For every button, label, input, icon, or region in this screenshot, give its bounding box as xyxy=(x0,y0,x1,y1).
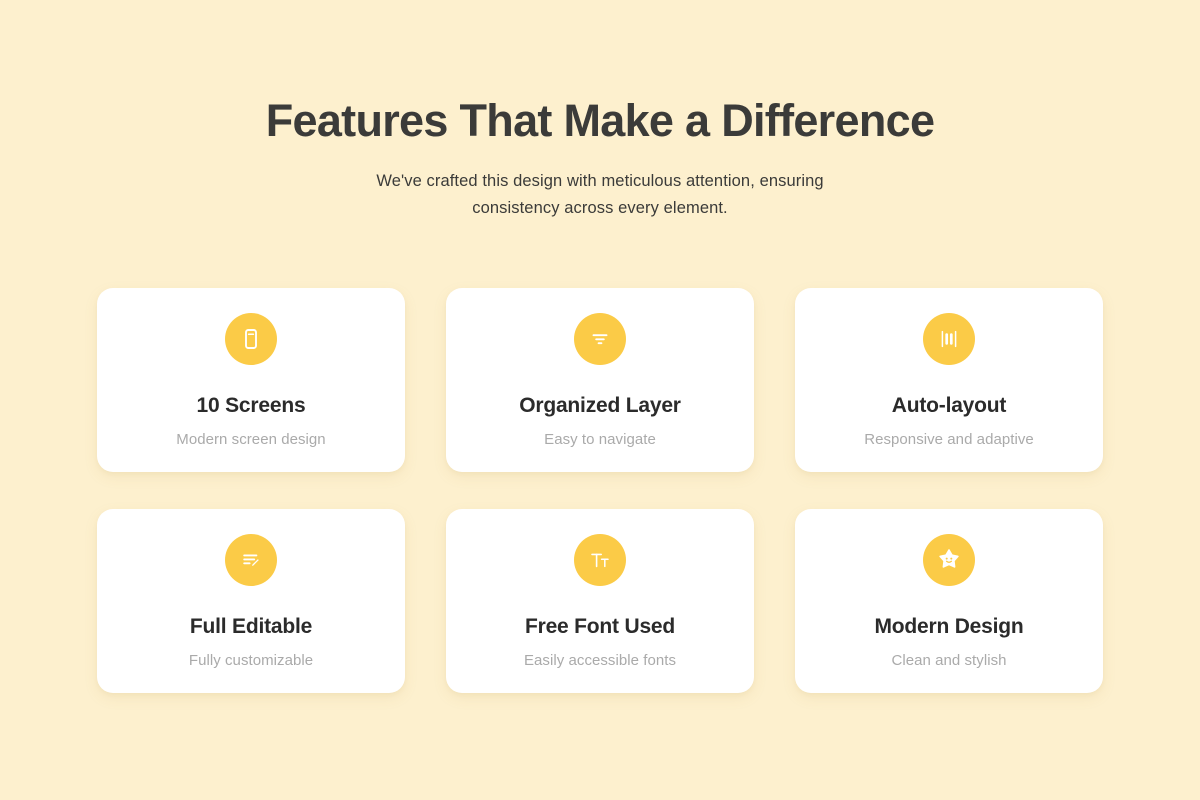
smiling-star-icon xyxy=(923,534,975,586)
feature-description: Easily accessible fonts xyxy=(524,652,676,670)
feature-title: Organized Layer xyxy=(519,394,681,417)
auto-layout-bars-icon xyxy=(923,313,975,365)
feature-description: Easy to navigate xyxy=(544,431,656,449)
feature-section-page: Features That Make a Difference We've cr… xyxy=(0,0,1200,800)
section-header: Features That Make a Difference We've cr… xyxy=(0,0,1200,222)
feature-card-free-font-used[interactable]: Free Font Used Easily accessible fonts xyxy=(446,509,754,693)
feature-description: Responsive and adaptive xyxy=(864,431,1034,449)
page-subtitle-line-1: We've crafted this design with meticulou… xyxy=(330,168,870,195)
feature-description: Clean and stylish xyxy=(891,652,1006,670)
feature-title: Free Font Used xyxy=(525,615,675,638)
edit-pencil-lines-icon xyxy=(225,534,277,586)
feature-description: Modern screen design xyxy=(176,431,325,449)
page-title: Features That Make a Difference xyxy=(0,96,1200,146)
feature-title: 10 Screens xyxy=(197,394,306,417)
feature-card-modern-design[interactable]: Modern Design Clean and stylish xyxy=(795,509,1103,693)
mobile-screen-icon xyxy=(225,313,277,365)
feature-title: Modern Design xyxy=(874,615,1023,638)
typography-tt-icon xyxy=(574,534,626,586)
feature-title: Full Editable xyxy=(190,615,312,638)
feature-description: Fully customizable xyxy=(189,652,313,670)
page-subtitle: We've crafted this design with meticulou… xyxy=(330,168,870,221)
feature-card-auto-layout[interactable]: Auto-layout Responsive and adaptive xyxy=(795,288,1103,472)
feature-title: Auto-layout xyxy=(892,394,1006,417)
features-grid: 10 Screens Modern screen design Organize… xyxy=(97,288,1103,693)
page-subtitle-line-2: consistency across every element. xyxy=(330,195,870,222)
feature-card-10-screens[interactable]: 10 Screens Modern screen design xyxy=(97,288,405,472)
feature-card-organized-layer[interactable]: Organized Layer Easy to navigate xyxy=(446,288,754,472)
layers-lines-icon xyxy=(574,313,626,365)
feature-card-full-editable[interactable]: Full Editable Fully customizable xyxy=(97,509,405,693)
